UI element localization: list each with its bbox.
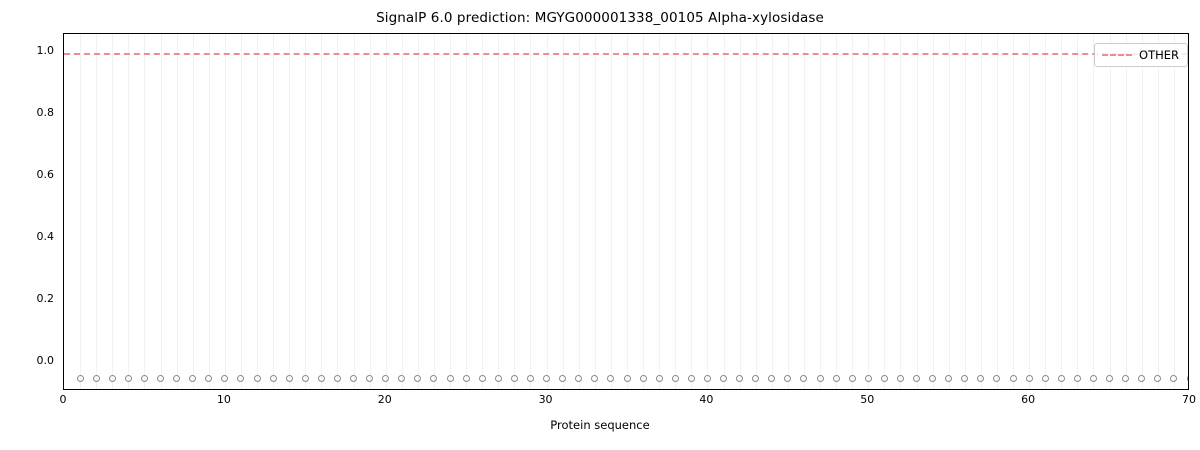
gridline (482, 34, 483, 389)
gridline (868, 34, 869, 389)
x-tick-major (386, 389, 387, 390)
gridline (1093, 34, 1094, 389)
x-tick-minor (1142, 389, 1143, 390)
x-tick-minor (579, 389, 580, 390)
residue-marker (237, 375, 244, 382)
gridline (1158, 34, 1159, 389)
y-tick-label: 0.0 (0, 354, 54, 367)
x-tick-minor (563, 389, 564, 390)
gridline (804, 34, 805, 389)
x-tick-minor (466, 389, 467, 390)
y-tick-mark (63, 115, 64, 116)
gridline (900, 34, 901, 389)
legend-label-other: OTHER (1139, 48, 1179, 62)
x-tick-minor (96, 389, 97, 390)
gridline (691, 34, 692, 389)
residue-letter: N (1186, 389, 1189, 390)
residue-marker (1058, 375, 1065, 382)
gridline (547, 34, 548, 389)
x-tick-minor (273, 389, 274, 390)
residue-marker (704, 375, 711, 382)
x-tick-minor (659, 389, 660, 390)
residue-marker (205, 375, 212, 382)
gridline (1077, 34, 1078, 389)
x-tick-major (225, 389, 226, 390)
chart-title: SignalP 6.0 prediction: MGYG000001338_00… (0, 10, 1200, 26)
residue-marker (736, 375, 743, 382)
x-tick-minor (80, 389, 81, 390)
gridline (257, 34, 258, 389)
residue-marker (945, 375, 952, 382)
residue-marker (672, 375, 679, 382)
gridline (1045, 34, 1046, 389)
x-tick-minor (144, 389, 145, 390)
x-tick-minor (1045, 389, 1046, 390)
residue-marker (1154, 375, 1161, 382)
residue-marker (398, 375, 405, 382)
y-tick-label: 0.8 (0, 106, 54, 119)
residue-marker (430, 375, 437, 382)
gridline (128, 34, 129, 389)
residue-marker (881, 375, 888, 382)
residue-marker (1138, 375, 1145, 382)
gridline (289, 34, 290, 389)
x-tick-minor (161, 389, 162, 390)
residue-marker (607, 375, 614, 382)
x-tick-minor (756, 389, 757, 390)
residue-marker (141, 375, 148, 382)
gridline (402, 34, 403, 389)
x-tick-minor (321, 389, 322, 390)
x-tick-major (868, 389, 869, 390)
residue-marker (656, 375, 663, 382)
gridline (724, 34, 725, 389)
residue-marker (350, 375, 357, 382)
residue-marker (157, 375, 164, 382)
chart-legend[interactable]: OTHER (1094, 43, 1188, 67)
residue-marker (447, 375, 454, 382)
x-tick-major (1029, 389, 1030, 390)
x-tick-minor (997, 389, 998, 390)
x-tick-major (547, 389, 548, 390)
gridline (788, 34, 789, 389)
residue-marker (865, 375, 872, 382)
gridline (466, 34, 467, 389)
residue-marker (1042, 375, 1049, 382)
residue-marker (414, 375, 421, 382)
residue-marker (125, 375, 132, 382)
gridline (112, 34, 113, 389)
x-tick-minor (724, 389, 725, 390)
residue-marker (961, 375, 968, 382)
residue-marker (1090, 375, 1097, 382)
gridline (1126, 34, 1127, 389)
x-tick-minor (530, 389, 531, 390)
residue-marker (929, 375, 936, 382)
residue-marker (993, 375, 1000, 382)
x-tick-minor (917, 389, 918, 390)
x-tick-minor (241, 389, 242, 390)
x-tick-minor (1174, 389, 1175, 390)
residue-marker (817, 375, 824, 382)
x-tick-minor (1158, 389, 1159, 390)
x-tick-minor (772, 389, 773, 390)
x-tick-minor (305, 389, 306, 390)
x-tick-minor (595, 389, 596, 390)
x-tick-minor (691, 389, 692, 390)
gridline (209, 34, 210, 389)
residue-marker (800, 375, 807, 382)
residue-marker (302, 375, 309, 382)
gridline (1013, 34, 1014, 389)
residue-marker (559, 375, 566, 382)
residue-marker (173, 375, 180, 382)
residue-marker (688, 375, 695, 382)
x-tick-major (707, 389, 708, 390)
x-tick-minor (112, 389, 113, 390)
residue-marker (1187, 375, 1190, 382)
x-tick-minor (1110, 389, 1111, 390)
gridline (563, 34, 564, 389)
residue-marker (1074, 375, 1081, 382)
x-tick-minor (675, 389, 676, 390)
x-tick-minor (434, 389, 435, 390)
residue-marker (109, 375, 116, 382)
residue-marker (575, 375, 582, 382)
residue-marker (897, 375, 904, 382)
y-tick-mark (63, 301, 64, 302)
x-axis-label: Protein sequence (0, 418, 1200, 432)
x-tick-minor (498, 389, 499, 390)
residue-marker (334, 375, 341, 382)
legend-swatch-other (1102, 54, 1132, 56)
x-tick-minor (627, 389, 628, 390)
x-tick-minor (949, 389, 950, 390)
residue-marker (495, 375, 502, 382)
gridline (884, 34, 885, 389)
residue-marker (1170, 375, 1177, 382)
residue-marker (591, 375, 598, 382)
residue-marker (479, 375, 486, 382)
x-tick-minor (450, 389, 451, 390)
residue-marker (527, 375, 534, 382)
gridline (579, 34, 580, 389)
x-tick-label: 10 (217, 393, 231, 406)
residue-marker (93, 375, 100, 382)
x-tick-minor (836, 389, 837, 390)
gridline (305, 34, 306, 389)
gridline (707, 34, 708, 389)
x-tick-label: 50 (860, 393, 874, 406)
x-tick-label: 0 (60, 393, 67, 406)
gridline (498, 34, 499, 389)
x-tick-minor (209, 389, 210, 390)
residue-marker (543, 375, 550, 382)
gridline (80, 34, 81, 389)
gridline (434, 34, 435, 389)
y-tick-mark (63, 53, 64, 54)
plot-area: MIQKYTYGTPFETDAIVTSIPASEGTPAYGTISTENGFSF… (63, 33, 1189, 390)
gridline (450, 34, 451, 389)
gridline (273, 34, 274, 389)
gridline (611, 34, 612, 389)
gridline (981, 34, 982, 389)
residue-marker (768, 375, 775, 382)
y-tick-mark (63, 239, 64, 240)
gridline (627, 34, 628, 389)
gridline (675, 34, 676, 389)
x-tick-minor (370, 389, 371, 390)
residue-marker (849, 375, 856, 382)
residue-marker (752, 375, 759, 382)
gridline (386, 34, 387, 389)
gridline (161, 34, 162, 389)
y-tick-label: 0.2 (0, 292, 54, 305)
gridline (241, 34, 242, 389)
gridline (917, 34, 918, 389)
gridline (225, 34, 226, 389)
gridline (997, 34, 998, 389)
residue-marker (318, 375, 325, 382)
gridline (643, 34, 644, 389)
gridline (144, 34, 145, 389)
gridline (772, 34, 773, 389)
residue-marker (189, 375, 196, 382)
residue-marker (1010, 375, 1017, 382)
x-tick-minor (933, 389, 934, 390)
residue-marker (463, 375, 470, 382)
residue-marker (221, 375, 228, 382)
gridline (756, 34, 757, 389)
gridline (965, 34, 966, 389)
gridline (354, 34, 355, 389)
x-tick-label: 60 (1021, 393, 1035, 406)
y-tick-label: 0.6 (0, 168, 54, 181)
residue-marker (833, 375, 840, 382)
residue-marker (1106, 375, 1113, 382)
x-tick-minor (740, 389, 741, 390)
x-tick-minor (514, 389, 515, 390)
x-tick-label: 40 (699, 393, 713, 406)
residue-marker (366, 375, 373, 382)
x-tick-minor (289, 389, 290, 390)
residue-marker (286, 375, 293, 382)
gridline (949, 34, 950, 389)
gridline (659, 34, 660, 389)
x-tick-minor (177, 389, 178, 390)
gridline (595, 34, 596, 389)
gridline (740, 34, 741, 389)
x-tick-label: 70 (1182, 393, 1196, 406)
gridline (370, 34, 371, 389)
gridline (418, 34, 419, 389)
gridline (177, 34, 178, 389)
residue-marker (784, 375, 791, 382)
residue-marker (720, 375, 727, 382)
gridline (1174, 34, 1175, 389)
x-tick-major (64, 389, 65, 390)
x-tick-minor (900, 389, 901, 390)
gridline (514, 34, 515, 389)
x-tick-minor (1126, 389, 1127, 390)
x-tick-minor (1093, 389, 1094, 390)
y-tick-label: 0.4 (0, 230, 54, 243)
gridline (820, 34, 821, 389)
residue-marker (382, 375, 389, 382)
gridline (193, 34, 194, 389)
residue-marker (1026, 375, 1033, 382)
x-tick-label: 30 (539, 393, 553, 406)
x-tick-minor (482, 389, 483, 390)
x-tick-minor (402, 389, 403, 390)
gridline (1061, 34, 1062, 389)
x-tick-minor (981, 389, 982, 390)
y-tick-label: 1.0 (0, 44, 54, 57)
residue-marker (254, 375, 261, 382)
x-tick-minor (852, 389, 853, 390)
x-tick-minor (354, 389, 355, 390)
residue-marker (77, 375, 84, 382)
y-tick-mark (63, 177, 64, 178)
other-probability-line (64, 53, 1188, 55)
gridline (1029, 34, 1030, 389)
gridline (836, 34, 837, 389)
residue-marker (640, 375, 647, 382)
gridline (337, 34, 338, 389)
x-tick-minor (804, 389, 805, 390)
x-tick-minor (1077, 389, 1078, 390)
gridline (852, 34, 853, 389)
residue-marker (1122, 375, 1129, 382)
x-tick-minor (193, 389, 194, 390)
x-tick-minor (257, 389, 258, 390)
x-tick-minor (1061, 389, 1062, 390)
gridline (96, 34, 97, 389)
residue-marker (977, 375, 984, 382)
residue-marker (913, 375, 920, 382)
x-tick-label: 20 (378, 393, 392, 406)
signalp-prediction-figure: SignalP 6.0 prediction: MGYG000001338_00… (0, 0, 1200, 450)
residue-marker (270, 375, 277, 382)
residue-marker (624, 375, 631, 382)
x-tick-minor (643, 389, 644, 390)
gridline (530, 34, 531, 389)
residue-marker (511, 375, 518, 382)
gridline (1142, 34, 1143, 389)
x-tick-minor (965, 389, 966, 390)
x-tick-minor (611, 389, 612, 390)
x-tick-minor (1013, 389, 1014, 390)
gridline (933, 34, 934, 389)
x-tick-minor (128, 389, 129, 390)
y-tick-mark (63, 363, 64, 364)
x-tick-minor (337, 389, 338, 390)
x-tick-minor (884, 389, 885, 390)
x-tick-minor (820, 389, 821, 390)
x-tick-minor (788, 389, 789, 390)
gridline (1110, 34, 1111, 389)
x-tick-minor (418, 389, 419, 390)
gridline (321, 34, 322, 389)
